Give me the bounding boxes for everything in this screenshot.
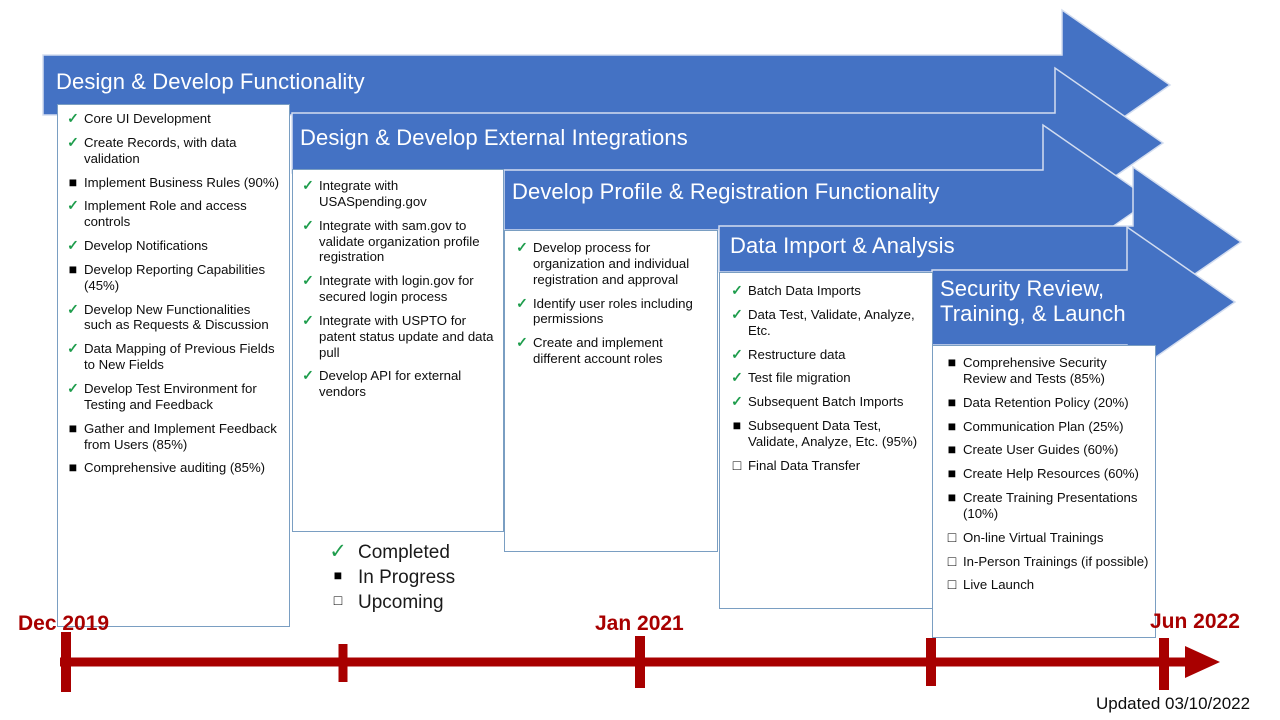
check-icon: ✓	[513, 334, 531, 351]
list-item: ■Create Training Presentations (10%)	[941, 490, 1149, 522]
list-item-label: Develop Reporting Capabilities (45%)	[84, 262, 265, 293]
filled-square-icon: ■	[64, 174, 82, 191]
check-icon: ✓	[64, 110, 82, 127]
check-icon: ✓	[728, 282, 746, 299]
list-item-label: Identify user roles including permission…	[533, 296, 693, 327]
list-item: ✓Data Test, Validate, Analyze, Etc.	[726, 307, 924, 339]
list-item: ✓Develop API for external vendors	[297, 368, 495, 400]
list-item-label: Data Retention Policy (20%)	[963, 395, 1129, 410]
empty-square-icon: □	[943, 553, 961, 570]
list-item-label: Test file migration	[748, 370, 851, 385]
filled-square-icon: ■	[64, 459, 82, 476]
list-item-label: Create User Guides (60%)	[963, 442, 1118, 457]
list-item-label: Develop Notifications	[84, 238, 208, 253]
list-item-label: Implement Business Rules (90%)	[84, 175, 279, 190]
list-item: ✓Batch Data Imports	[726, 283, 924, 299]
list-item: ✓Test file migration	[726, 370, 924, 386]
check-icon: ✓	[728, 346, 746, 363]
phase-list-1-items: ✓Core UI Development✓Create Records, wit…	[62, 111, 281, 476]
phase-list-2[interactable]: ✓Integrate with USASpending.gov✓Integrat…	[292, 169, 504, 532]
phase-title-5: Security Review, Training, & Launch	[940, 277, 1135, 326]
list-item-label: Develop process for organization and ind…	[533, 240, 689, 287]
list-item: ■Comprehensive Security Review and Tests…	[941, 355, 1149, 387]
list-item-label: Core UI Development	[84, 111, 211, 126]
list-item: ✓Integrate with USPTO for patent status …	[297, 313, 495, 361]
phase-list-2-items: ✓Integrate with USASpending.gov✓Integrat…	[297, 178, 495, 400]
check-icon: ✓	[299, 367, 317, 384]
list-item-label: Final Data Transfer	[748, 458, 860, 473]
list-item-label: Integrate with USPTO for patent status u…	[319, 313, 494, 360]
list-item-label: Develop New Functionalities such as Requ…	[84, 302, 269, 333]
list-item-label: Live Launch	[963, 577, 1034, 592]
check-icon: ✓	[728, 369, 746, 386]
timeline-end-label: Jun 2022	[1150, 610, 1240, 634]
filled-square-icon: ■	[64, 261, 82, 278]
list-item: ■Subsequent Data Test, Validate, Analyze…	[726, 418, 924, 450]
list-item-label: Integrate with login.gov for secured log…	[319, 273, 474, 304]
check-icon: ✓	[299, 217, 317, 234]
list-item-label: Subsequent Batch Imports	[748, 394, 903, 409]
list-item: ✓Develop process for organization and in…	[511, 240, 709, 288]
phase-list-5-items: ■Comprehensive Security Review and Tests…	[941, 355, 1149, 593]
check-icon: ✓	[64, 237, 82, 254]
phase-title-4: Data Import & Analysis	[730, 234, 1130, 259]
list-item-label: Batch Data Imports	[748, 283, 861, 298]
list-item: ✓Data Mapping of Previous Fields to New …	[62, 341, 281, 373]
filled-square-icon: ■	[943, 394, 961, 411]
list-item-label: Comprehensive Security Review and Tests …	[963, 355, 1107, 386]
updated-stamp: Updated 03/10/2022	[1096, 694, 1250, 714]
list-item-label: Comprehensive auditing (85%)	[84, 460, 265, 475]
list-item: ✓Identify user roles including permissio…	[511, 296, 709, 328]
empty-square-icon: □	[326, 591, 350, 610]
phase-list-1[interactable]: ✓Core UI Development✓Create Records, wit…	[57, 104, 290, 627]
list-item: □Final Data Transfer	[726, 458, 924, 474]
list-item: ✓Integrate with USASpending.gov	[297, 178, 495, 210]
list-item-label: Create Training Presentations (10%)	[963, 490, 1137, 521]
list-item: □In-Person Trainings (if possible)	[941, 554, 1149, 570]
legend-item-upcoming: □ Upcoming	[318, 590, 455, 615]
check-icon: ✓	[513, 295, 531, 312]
list-item: ✓Implement Role and access controls	[62, 198, 281, 230]
legend-item-in-progress: ■ In Progress	[318, 565, 455, 590]
filled-square-icon: ■	[943, 354, 961, 371]
legend-label-upcoming: Upcoming	[358, 592, 444, 613]
filled-square-icon: ■	[943, 418, 961, 435]
list-item: ■Develop Reporting Capabilities (45%)	[62, 262, 281, 294]
list-item: ■Create Help Resources (60%)	[941, 466, 1149, 482]
list-item: ✓Develop New Functionalities such as Req…	[62, 302, 281, 334]
phase-list-3-items: ✓Develop process for organization and in…	[511, 240, 709, 367]
list-item: ✓Develop Test Environment for Testing an…	[62, 381, 281, 413]
list-item: ✓Develop Notifications	[62, 238, 281, 254]
list-item-label: Restructure data	[748, 347, 846, 362]
list-item: □On-line Virtual Trainings	[941, 530, 1149, 546]
check-icon: ✓	[299, 272, 317, 289]
list-item: ■Implement Business Rules (90%)	[62, 175, 281, 191]
list-item: ■Gather and Implement Feedback from User…	[62, 421, 281, 453]
legend-item-completed: ✓ Completed	[318, 540, 455, 565]
list-item: ■Data Retention Policy (20%)	[941, 395, 1149, 411]
list-item: ■Comprehensive auditing (85%)	[62, 460, 281, 476]
legend-label-completed: Completed	[358, 542, 450, 563]
list-item-label: Create Help Resources (60%)	[963, 466, 1139, 481]
list-item: ✓Create and implement different account …	[511, 335, 709, 367]
check-icon: ✓	[64, 197, 82, 214]
list-item-label: Gather and Implement Feedback from Users…	[84, 421, 277, 452]
filled-square-icon: ■	[64, 420, 82, 437]
filled-square-icon: ■	[943, 441, 961, 458]
list-item: ■Communication Plan (25%)	[941, 419, 1149, 435]
empty-square-icon: □	[943, 529, 961, 546]
list-item: ✓Integrate with login.gov for secured lo…	[297, 273, 495, 305]
list-item-label: Develop API for external vendors	[319, 368, 461, 399]
list-item: ✓Integrate with sam.gov to validate orga…	[297, 218, 495, 266]
phase-list-3[interactable]: ✓Develop process for organization and in…	[504, 230, 718, 552]
legend-label-in-progress: In Progress	[358, 567, 455, 588]
legend: ✓ Completed ■ In Progress □ Upcoming	[318, 540, 455, 615]
list-item-label: In-Person Trainings (if possible)	[963, 554, 1148, 569]
check-icon: ✓	[64, 134, 82, 151]
list-item: ✓Restructure data	[726, 347, 924, 363]
list-item-label: Subsequent Data Test, Validate, Analyze,…	[748, 418, 917, 449]
phase-title-1: Design & Develop Functionality	[56, 70, 1006, 95]
list-item-label: Integrate with sam.gov to validate organ…	[319, 218, 480, 265]
check-icon: ✓	[299, 312, 317, 329]
list-item-label: Create Records, with data validation	[84, 135, 236, 166]
list-item: □Live Launch	[941, 577, 1149, 593]
list-item-label: On-line Virtual Trainings	[963, 530, 1104, 545]
list-item-label: Integrate with USASpending.gov	[319, 178, 427, 209]
empty-square-icon: □	[943, 576, 961, 593]
check-icon: ✓	[326, 538, 350, 566]
list-item-label: Data Mapping of Previous Fields to New F…	[84, 341, 275, 372]
list-item-label: Data Test, Validate, Analyze, Etc.	[748, 307, 915, 338]
list-item-label: Implement Role and access controls	[84, 198, 247, 229]
list-item: ✓Core UI Development	[62, 111, 281, 127]
timeline-mid-label: Jan 2021	[595, 612, 684, 636]
filled-square-icon: ■	[326, 566, 350, 585]
list-item-label: Communication Plan (25%)	[963, 419, 1124, 434]
list-item: ✓Subsequent Batch Imports	[726, 394, 924, 410]
check-icon: ✓	[728, 306, 746, 323]
filled-square-icon: ■	[943, 465, 961, 482]
list-item: ■Create User Guides (60%)	[941, 442, 1149, 458]
phase-title-3: Develop Profile & Registration Functiona…	[512, 180, 1032, 205]
timeline-start-label: Dec 2019	[18, 612, 109, 636]
check-icon: ✓	[513, 239, 531, 256]
list-item: ✓Create Records, with data validation	[62, 135, 281, 167]
phase-list-4-items: ✓Batch Data Imports✓Data Test, Validate,…	[726, 283, 924, 474]
phase-list-4[interactable]: ✓Batch Data Imports✓Data Test, Validate,…	[719, 272, 933, 609]
check-icon: ✓	[299, 177, 317, 194]
list-item-label: Develop Test Environment for Testing and…	[84, 381, 257, 412]
filled-square-icon: ■	[943, 489, 961, 506]
phase-list-5[interactable]: ■Comprehensive Security Review and Tests…	[932, 345, 1156, 638]
check-icon: ✓	[64, 340, 82, 357]
check-icon: ✓	[64, 301, 82, 318]
phase-title-2: Design & Develop External Integrations	[300, 126, 1020, 151]
filled-square-icon: ■	[728, 417, 746, 434]
roadmap-canvas: Design & Develop Functionality Design & …	[0, 0, 1280, 720]
empty-square-icon: □	[728, 457, 746, 474]
timeline-axis	[60, 632, 1220, 692]
check-icon: ✓	[728, 393, 746, 410]
check-icon: ✓	[64, 380, 82, 397]
list-item-label: Create and implement different account r…	[533, 335, 663, 366]
